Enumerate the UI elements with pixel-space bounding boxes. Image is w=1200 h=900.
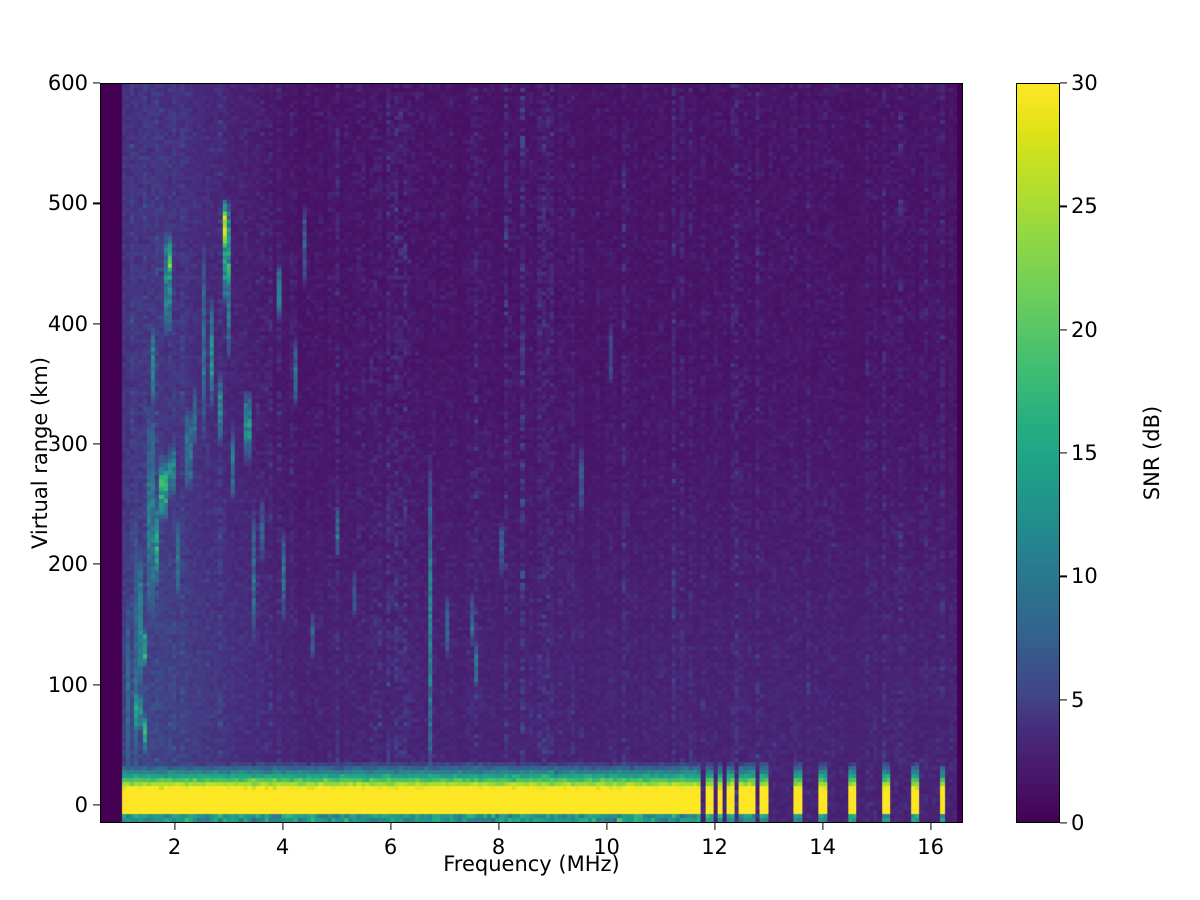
- x-tick-mark: [714, 823, 715, 830]
- colorbar-tick-mark: [1060, 82, 1067, 83]
- ionogram-plot-area[interactable]: [100, 83, 963, 823]
- y-tick-mark: [93, 804, 100, 805]
- y-tick-label: 100: [48, 673, 88, 697]
- x-axis-label: Frequency (MHz): [100, 852, 963, 876]
- y-tick-label: 400: [48, 312, 88, 336]
- y-tick-label: 0: [75, 793, 88, 817]
- colorbar-tick-label: 0: [1071, 811, 1084, 835]
- y-tick-mark: [93, 203, 100, 204]
- y-tick-label: 200: [48, 552, 88, 576]
- colorbar-tick-mark: [1060, 822, 1067, 823]
- ionogram-figure: IRF Uppsala SDR Ionosonde UP158 2025-11-…: [0, 0, 1200, 900]
- y-tick-label: 300: [48, 432, 88, 456]
- y-axis-label: Virtual range (km): [28, 357, 52, 549]
- y-tick-label: 500: [48, 191, 88, 215]
- x-tick-mark: [390, 823, 391, 830]
- y-tick-mark: [93, 443, 100, 444]
- colorbar-label: SNR (dB): [1140, 406, 1164, 500]
- colorbar-tick-label: 15: [1071, 441, 1098, 465]
- ionogram-heatmap-canvas: [101, 84, 962, 822]
- y-tick-mark: [93, 684, 100, 685]
- y-tick-mark: [93, 323, 100, 324]
- colorbar-tick-label: 5: [1071, 688, 1084, 712]
- colorbar-tick-mark: [1060, 699, 1067, 700]
- x-tick-mark: [282, 823, 283, 830]
- colorbar-tick-label: 20: [1071, 318, 1098, 342]
- x-tick-mark: [822, 823, 823, 830]
- colorbar-tick-label: 30: [1071, 71, 1098, 95]
- colorbar-tick-label: 25: [1071, 194, 1098, 218]
- colorbar-tick-label: 10: [1071, 564, 1098, 588]
- x-tick-mark: [498, 823, 499, 830]
- colorbar-tick-mark: [1060, 576, 1067, 577]
- colorbar-tick-mark: [1060, 452, 1067, 453]
- y-tick-mark: [93, 82, 100, 83]
- x-tick-mark: [606, 823, 607, 830]
- x-tick-mark: [174, 823, 175, 830]
- y-tick-label: 600: [48, 71, 88, 95]
- colorbar[interactable]: [1016, 83, 1060, 823]
- colorbar-tick-mark: [1060, 329, 1067, 330]
- x-tick-mark: [930, 823, 931, 830]
- colorbar-tick-mark: [1060, 206, 1067, 207]
- y-tick-mark: [93, 564, 100, 565]
